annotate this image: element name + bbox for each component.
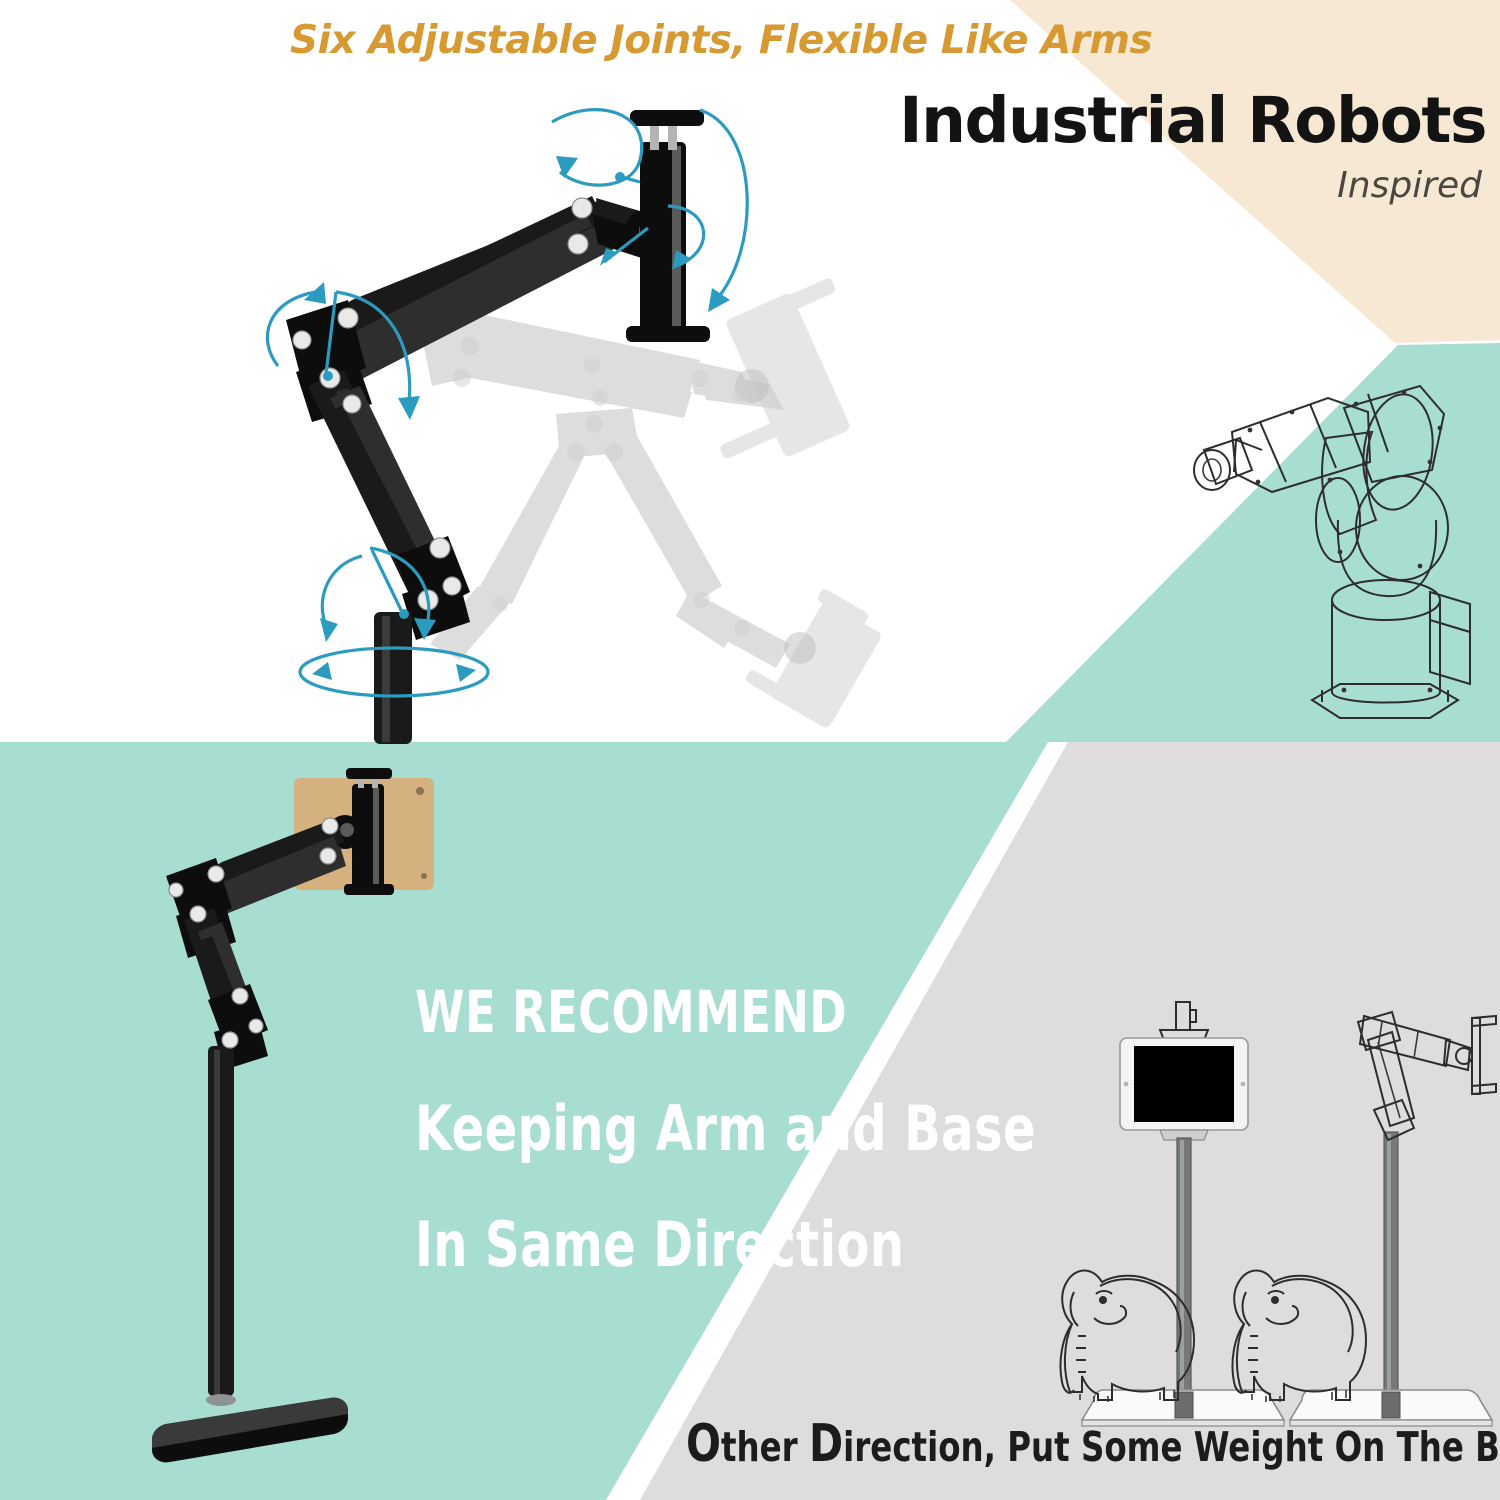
caption-part-2: irection, Put Some Weight On The Base [843, 1423, 1500, 1471]
page-subtitle: Inspired [1337, 165, 1482, 206]
headline-joints: Six Adjustable Joints, Flexible Like Arm… [290, 18, 1152, 63]
recommend-line-2: Keeping Arm and Base [415, 1092, 1036, 1165]
recommend-line-1: WE RECOMMEND [415, 978, 847, 1046]
caption-part-1: ther [721, 1423, 809, 1471]
infographic-page: Six Adjustable Joints, Flexible Like Arm… [0, 0, 1500, 1500]
bottom-caption: Other Direction, Put Some Weight On The … [686, 1414, 1500, 1474]
recommend-line-3: In Same Direction [415, 1208, 905, 1281]
caption-cap-d: D [809, 1414, 843, 1474]
page-title: Industrial Robots [899, 84, 1486, 157]
caption-cap-o: O [686, 1414, 721, 1474]
